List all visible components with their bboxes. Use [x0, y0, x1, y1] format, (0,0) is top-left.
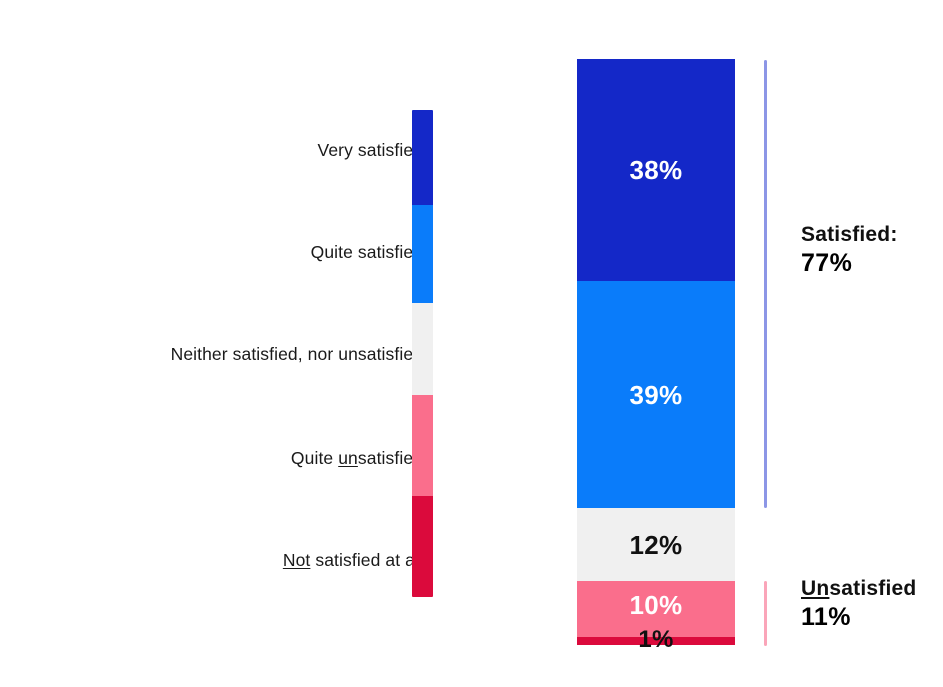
- legend-item-quite-satisfied: Quite satisfied: [0, 241, 440, 263]
- bar-segment-very-satisfied[interactable]: 38%: [577, 59, 735, 281]
- legend-item-neither: Neither satisfied, nor unsatisfied: [0, 343, 440, 365]
- legend-label-part-pre: Quite: [291, 448, 338, 468]
- annotation-unsatisfied: Unsatisfied 11%: [801, 576, 916, 634]
- legend-color-strip: [412, 110, 433, 597]
- annotation-unsatisfied-title: Unsatisfied: [801, 576, 916, 602]
- bar-segment-not-satisfied-at-all[interactable]: 1%: [577, 637, 735, 645]
- bar-segment-quite-satisfied[interactable]: 39%: [577, 281, 735, 508]
- bar-value-quite-unsatisfied: 10%: [630, 592, 683, 618]
- legend-label-part-underline: Not: [283, 550, 311, 570]
- annotation-unsatisfied-value: 11%: [801, 602, 916, 633]
- legend-swatch-quite-unsatisfied: [412, 395, 433, 496]
- legend-label-part-post: satisfied at all: [310, 550, 423, 570]
- legend-label-neither: Neither satisfied, nor unsatisfied: [171, 344, 440, 365]
- annotation-satisfied-title: Satisfied:: [801, 222, 898, 248]
- annotation-unsatisfied-title-post: satisfied: [829, 577, 916, 600]
- legend-swatch-neither: [412, 303, 433, 395]
- legend-label-part-underline: un: [338, 448, 358, 468]
- bracket-line-unsatisfied: [764, 581, 767, 646]
- stacked-bar-chart: 38% 39% 12% 10% 1%: [577, 59, 735, 659]
- chart-legend: Very satisfied Quite satisfied Neither s…: [0, 0, 440, 687]
- annotation-satisfied-value: 77%: [801, 248, 898, 279]
- bar-value-not-satisfied-at-all: 1%: [638, 628, 673, 652]
- bar-value-neither: 12%: [630, 532, 683, 558]
- legend-item-quite-unsatisfied: Quite unsatisfied: [0, 447, 440, 469]
- annotation-satisfied: Satisfied: 77%: [801, 222, 898, 280]
- annotation-unsatisfied-title-underline: Un: [801, 577, 829, 600]
- legend-swatch-not-satisfied-at-all: [412, 496, 433, 597]
- legend-swatch-quite-satisfied: [412, 205, 433, 303]
- bar-value-quite-satisfied: 39%: [630, 382, 683, 408]
- bar-segment-neither[interactable]: 12%: [577, 508, 735, 581]
- legend-item-very-satisfied: Very satisfied: [0, 139, 440, 161]
- bracket-line-satisfied: [764, 60, 767, 508]
- bar-value-very-satisfied: 38%: [630, 157, 683, 183]
- legend-swatch-very-satisfied: [412, 110, 433, 205]
- legend-item-not-satisfied-at-all: Not satisfied at all: [0, 549, 440, 571]
